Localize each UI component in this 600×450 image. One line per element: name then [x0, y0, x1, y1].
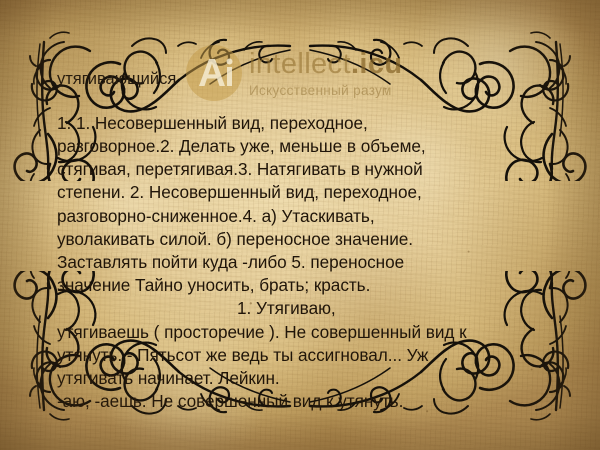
page-vignette	[0, 0, 600, 450]
parchment-page: intellect.icu Искусственный разум утягив…	[0, 0, 600, 450]
